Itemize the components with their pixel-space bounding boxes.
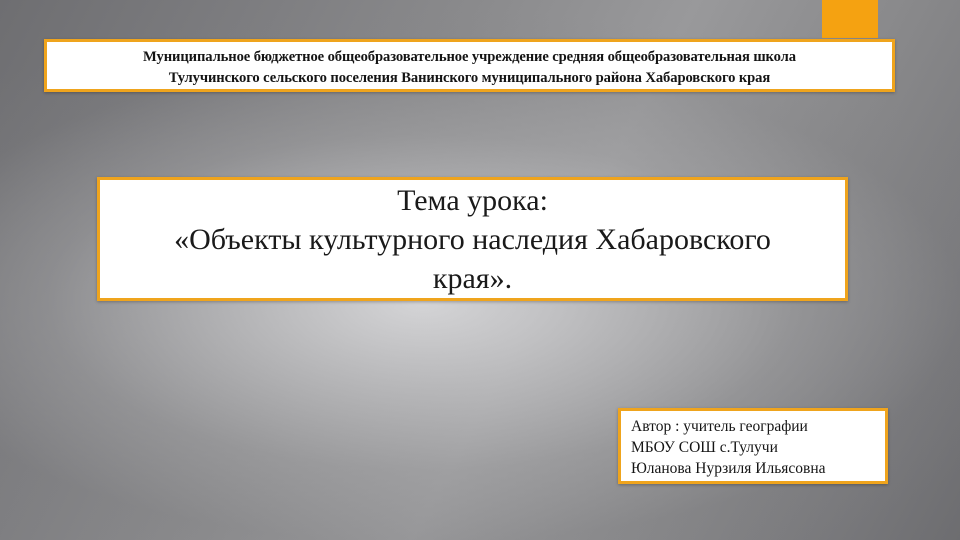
lesson-title-line-2: «Объекты культурного наследия Хабаровско… xyxy=(114,220,831,259)
presentation-slide: Муниципальное бюджетное общеобразователь… xyxy=(0,0,960,540)
author-school-line: МБОУ СОШ с.Тулучи xyxy=(631,437,877,458)
author-credits-box: Автор : учитель географии МБОУ СОШ с.Тул… xyxy=(618,408,888,484)
author-role-line: Автор : учитель географии xyxy=(631,416,877,437)
institution-header-line-2: Тулучинского сельского поселения Ванинск… xyxy=(169,68,770,89)
lesson-title: Тема урока: «Объекты культурного наследи… xyxy=(114,181,831,298)
orange-accent-block xyxy=(822,0,878,38)
institution-header-box: Муниципальное бюджетное общеобразователь… xyxy=(44,39,895,92)
author-name-line: Юланова Нурзиля Ильясовна xyxy=(631,458,877,479)
lesson-title-box: Тема урока: «Объекты культурного наследи… xyxy=(97,177,848,301)
institution-header-line-1: Муниципальное бюджетное общеобразователь… xyxy=(143,47,796,68)
lesson-title-line-3: края». xyxy=(114,259,831,298)
lesson-title-line-1: Тема урока: xyxy=(114,181,831,220)
